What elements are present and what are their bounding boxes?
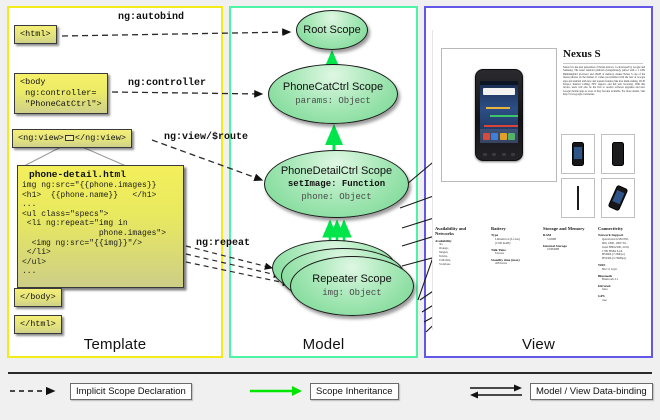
scope-repeater[interactable]: Repeater Scope img: Object bbox=[290, 256, 414, 316]
thumbnail-front-screen[interactable] bbox=[561, 134, 595, 174]
wallpaper-line-1 bbox=[486, 107, 510, 109]
spec-column-connectivity: Connectivity Network Support Quad-band G… bbox=[598, 226, 646, 303]
spec-values-availability: 3GOrange,Singtel,Telstra,T-Mobile,Vodafo… bbox=[435, 243, 483, 266]
spec-value-wifi: 802.11 b/g/n bbox=[598, 268, 646, 272]
scope-phonedetailctrl-prop-setimage: setImage: Function bbox=[288, 179, 385, 190]
phone-screen bbox=[480, 81, 518, 143]
mini-phone-edge-icon bbox=[577, 186, 579, 210]
legend-double-arrow-icon bbox=[468, 381, 524, 401]
tag-ngview-open: <ng:view> bbox=[18, 133, 64, 143]
rendered-view-page: Nexus S Nexus S is the next generation o… bbox=[432, 30, 646, 330]
scope-repeater-prop-img: img: Object bbox=[322, 288, 381, 299]
label-ng-autobind: ng:autobind bbox=[118, 12, 184, 23]
legend-item-scope-inheritance: Scope Inheritance bbox=[248, 381, 399, 401]
tag-ngview-close: </ng:view> bbox=[75, 133, 126, 143]
dock-icon-2 bbox=[491, 133, 498, 140]
mini-phone-screen bbox=[574, 147, 582, 159]
scope-root[interactable]: Root Scope bbox=[296, 10, 368, 50]
phone-searchbar bbox=[483, 88, 515, 95]
spec-column-availability: Availability and Networks Availability 3… bbox=[435, 226, 483, 267]
mini-phone-tilted-screen bbox=[612, 190, 624, 204]
legend-green-arrow-icon bbox=[248, 381, 304, 401]
callout-filename: phone-detail.html bbox=[18, 166, 183, 181]
scope-phonecatctrl[interactable]: PhoneCatCtrl Scope params: Object bbox=[268, 64, 398, 124]
spec-table: Availability and Networks Availability 3… bbox=[433, 226, 647, 326]
column-label-template: Template bbox=[7, 336, 223, 418]
wallpaper-line-2 bbox=[490, 115, 518, 117]
thumbnail-back[interactable] bbox=[601, 134, 635, 174]
legend-divider bbox=[8, 372, 652, 374]
phone-button-menu bbox=[492, 153, 496, 156]
scope-phonedetailctrl-name: PhoneDetailCtrl Scope bbox=[281, 165, 392, 178]
legend-item-implicit-scope: Implicit Scope Declaration bbox=[8, 381, 192, 401]
mini-phone-tilted-icon bbox=[608, 185, 629, 212]
tag-body-close[interactable]: </body> bbox=[14, 288, 62, 307]
phone-hero-image bbox=[475, 69, 523, 161]
spec-heading-connectivity: Connectivity bbox=[598, 226, 646, 231]
dock-icon-3 bbox=[500, 133, 507, 140]
spec-value-internal-storage: 16384MB bbox=[543, 248, 595, 252]
phone-hardware-buttons bbox=[480, 151, 518, 157]
legend-label-implicit-scope: Implicit Scope Declaration bbox=[70, 383, 192, 400]
mini-phone-back-icon bbox=[612, 142, 624, 166]
spec-column-storage: Storage and Memory RAM 512MB Internal St… bbox=[543, 226, 595, 252]
thumbnail-edge[interactable] bbox=[561, 178, 595, 218]
scope-phonecatctrl-name: PhoneCatCtrl Scope bbox=[283, 81, 383, 94]
phone-button-home bbox=[511, 153, 515, 156]
phone-dock bbox=[480, 129, 518, 143]
scope-phonedetailctrl[interactable]: PhoneDetailCtrl Scope setImage: Function… bbox=[264, 150, 409, 218]
dock-icon-4 bbox=[508, 133, 515, 140]
column-label-view: View bbox=[424, 336, 653, 418]
phone-hero-image-frame[interactable] bbox=[441, 48, 557, 182]
column-label-model: Model bbox=[229, 336, 418, 418]
spec-heading-storage: Storage and Memory bbox=[543, 226, 595, 231]
diagram-canvas: <html> <body ng:controller= "PhoneCatCtr… bbox=[0, 0, 660, 420]
callout-code: img ng:src="{{phone.images}} <h1> {{phon… bbox=[18, 181, 183, 277]
title-divider bbox=[563, 63, 643, 64]
legend-dashed-arrow-icon bbox=[8, 381, 64, 401]
legend-label-data-binding: Model / View Data-binding bbox=[530, 383, 653, 400]
placeholder-rect-icon bbox=[65, 135, 74, 141]
tag-ngview[interactable]: <ng:view></ng:view> bbox=[12, 129, 132, 148]
tag-html-open[interactable]: <html> bbox=[14, 25, 57, 44]
spec-value-infrared: false bbox=[598, 288, 646, 292]
spec-value-ram: 512MB bbox=[543, 238, 595, 242]
spec-heading-availability: Availability and Networks bbox=[435, 226, 483, 237]
tag-body-open[interactable]: <body ng:controller= "PhoneCatCtrl"> bbox=[14, 73, 108, 114]
mini-phone-front-icon bbox=[572, 142, 584, 166]
tag-html-close[interactable]: </html> bbox=[14, 315, 62, 334]
template-callout-panel[interactable]: phone-detail.html img ng:src="{{phone.im… bbox=[17, 165, 184, 288]
spec-heading-battery: Battery bbox=[491, 226, 539, 231]
product-title: Nexus S bbox=[563, 48, 601, 60]
label-ng-view-route: ng:view/$route bbox=[164, 132, 248, 143]
spec-value-gps: true bbox=[598, 299, 646, 303]
label-ng-controller: ng:controller bbox=[128, 78, 206, 89]
phone-statusbar bbox=[480, 81, 518, 85]
spec-value-battery-type: Lithium Ion (Li-Ion)(1500 mAH) bbox=[491, 238, 539, 246]
spec-value-network-support: Quad-band GSM 850,900, 1800, 1900 Tri-ba… bbox=[598, 238, 646, 261]
spec-value-talk-time: 6 hours bbox=[491, 252, 539, 256]
spec-value-standby: 428 hours bbox=[491, 262, 539, 266]
legend-label-scope-inheritance: Scope Inheritance bbox=[310, 383, 399, 400]
product-description: Nexus S is the next generation of Nexus … bbox=[563, 66, 645, 97]
label-ng-repeat: ng:repeat bbox=[196, 238, 250, 249]
phone-button-search bbox=[502, 153, 506, 156]
legend-item-data-binding: Model / View Data-binding bbox=[468, 381, 653, 401]
spec-value-bluetooth: Bluetooth 2.1 bbox=[598, 278, 646, 282]
scope-phonecatctrl-prop-params: params: Object bbox=[295, 96, 371, 107]
scope-phonedetailctrl-prop-phone: phone: Object bbox=[301, 192, 371, 203]
spec-column-battery: Battery Type Lithium Ion (Li-Ion)(1500 m… bbox=[491, 226, 539, 266]
scope-repeater-name: Repeater Scope bbox=[312, 273, 392, 286]
dock-icon-1 bbox=[483, 133, 490, 140]
wallpaper-line-3 bbox=[484, 125, 518, 127]
scope-root-name: Root Scope bbox=[303, 24, 360, 37]
phone-button-back bbox=[483, 153, 487, 156]
thumbnail-tilted[interactable] bbox=[601, 178, 635, 218]
